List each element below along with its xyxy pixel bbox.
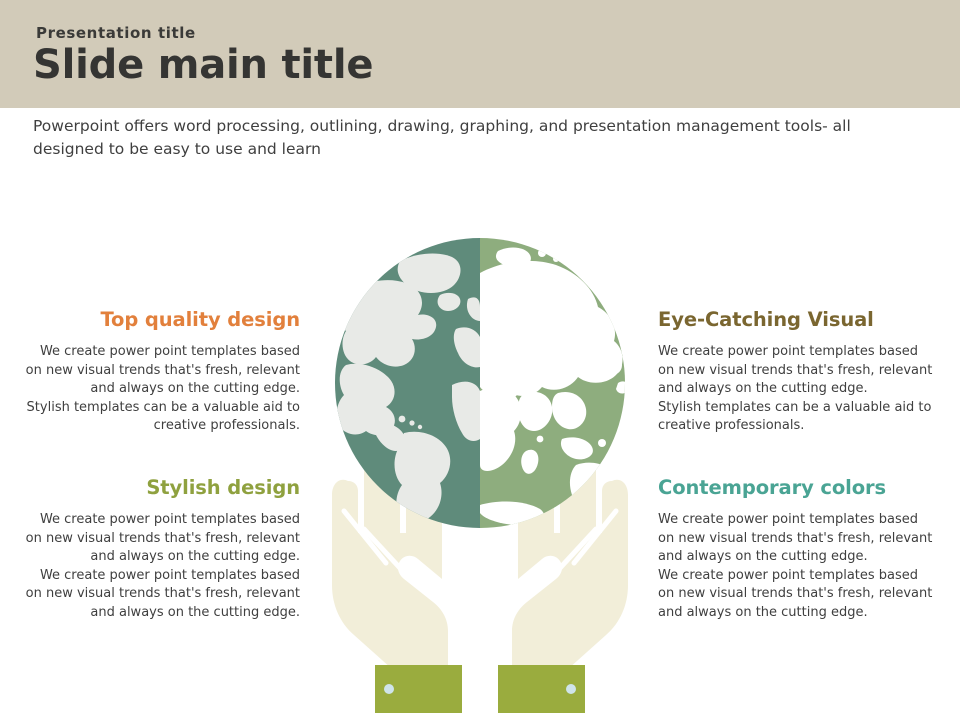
feature-block-eye-catching-visual: Eye-Catching Visual We create power poin… bbox=[658, 308, 936, 436]
feature-body: We create power point templates based on… bbox=[22, 343, 300, 436]
feature-block-top-quality-design: Top quality design We create power point… bbox=[22, 308, 300, 436]
feature-block-stylish-design: Stylish design We create power point tem… bbox=[22, 476, 300, 622]
cuffs-group bbox=[375, 665, 585, 713]
feature-body: We create power point templates based on… bbox=[658, 343, 936, 436]
feature-title: Contemporary colors bbox=[658, 476, 936, 499]
right-cuff-button bbox=[566, 684, 576, 694]
header-band: Presentation title Slide main title bbox=[0, 0, 960, 108]
left-cuff-button bbox=[384, 684, 394, 694]
feature-title: Stylish design bbox=[22, 476, 300, 499]
feature-body: We create power point templates based on… bbox=[658, 511, 936, 622]
globe-in-hands-illustration bbox=[330, 233, 630, 720]
feature-title: Eye-Catching Visual bbox=[658, 308, 936, 331]
page-title: Slide main title bbox=[33, 42, 373, 88]
feature-body: We create power point templates based on… bbox=[22, 511, 300, 622]
feature-block-contemporary-colors: Contemporary colors We create power poin… bbox=[658, 476, 936, 622]
presentation-eyebrow: Presentation title bbox=[36, 24, 196, 42]
slide-subtitle: Powerpoint offers word processing, outli… bbox=[33, 115, 853, 161]
feature-title: Top quality design bbox=[22, 308, 300, 331]
